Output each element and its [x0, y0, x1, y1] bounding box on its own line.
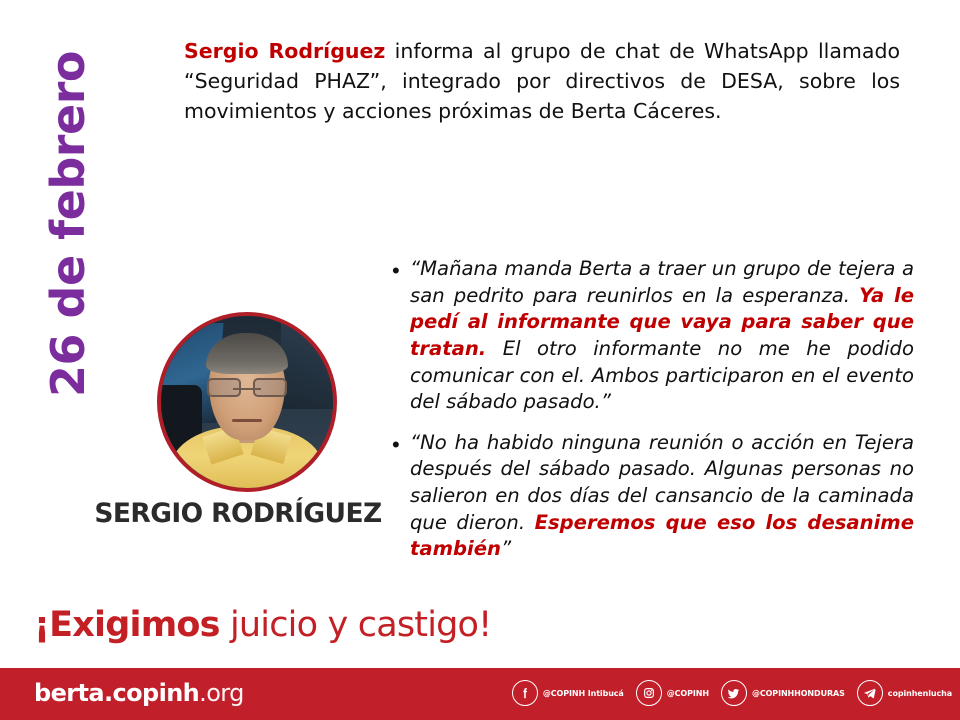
quote-item: • “No ha habido ninguna reunión o acción…: [392, 430, 914, 563]
quote-text: “Mañana manda Berta a traer un grupo de …: [410, 256, 914, 416]
intro-highlight: Sergio Rodríguez: [184, 39, 385, 63]
social-link-telegram[interactable]: copinhenlucha: [857, 680, 952, 706]
bullet-icon: •: [392, 256, 410, 286]
social-links: @COPINH Intibucá @COPINH: [512, 680, 952, 706]
telegram-icon[interactable]: [857, 680, 883, 706]
portrait-glasses-bridge: [233, 388, 261, 390]
quote-segment: “Mañana manda Berta a traer un grupo de …: [410, 257, 914, 307]
intro-paragraph: Sergio Rodríguez informa al grupo de cha…: [184, 36, 900, 126]
portrait-window-right: [281, 319, 337, 408]
facebook-handle: @COPINH Intibucá: [543, 689, 624, 698]
bullet-icon: •: [392, 430, 410, 460]
facebook-icon[interactable]: [512, 680, 538, 706]
quote-segment: ”: [501, 537, 511, 560]
instagram-icon[interactable]: [636, 680, 662, 706]
portrait-mouth: [232, 419, 263, 422]
quote-list: • “Mañana manda Berta a traer un grupo d…: [392, 256, 914, 577]
quote-item: • “Mañana manda Berta a traer un grupo d…: [392, 256, 914, 416]
telegram-handle: copinhenlucha: [888, 689, 952, 698]
footer-website[interactable]: berta.copinh.org: [34, 681, 244, 705]
portrait-name-label: SERGIO RODRÍGUEZ: [88, 498, 388, 529]
quote-text: “No ha habido ninguna reunión o acción e…: [410, 430, 914, 563]
twitter-icon[interactable]: [721, 680, 747, 706]
footer-bar: berta.copinh.org @COPINH Intibucá: [0, 668, 960, 720]
portrait-block: SERGIO RODRÍGUEZ: [88, 312, 388, 552]
portrait-photo: [157, 312, 337, 492]
slogan: ¡Exigimos juicio y castigo!: [34, 608, 491, 643]
social-link-facebook[interactable]: @COPINH Intibucá: [512, 680, 624, 706]
quote-segment: El otro informante no me he podido comun…: [410, 337, 914, 413]
slide-root: 26 de febrero Sergio Rodríguez informa a…: [0, 0, 960, 720]
social-link-twitter[interactable]: @COPINHHONDURAS: [721, 680, 845, 706]
instagram-handle: @COPINH: [667, 689, 709, 698]
footer-website-tld: .org: [199, 679, 244, 707]
social-link-instagram[interactable]: @COPINH: [636, 680, 709, 706]
footer-website-bold: berta.copinh: [34, 679, 199, 707]
date-label: 26 de febrero: [45, 17, 91, 397]
twitter-handle: @COPINHHONDURAS: [752, 689, 845, 698]
slogan-light: juicio y castigo!: [220, 605, 492, 645]
slogan-bold: ¡Exigimos: [34, 605, 220, 645]
